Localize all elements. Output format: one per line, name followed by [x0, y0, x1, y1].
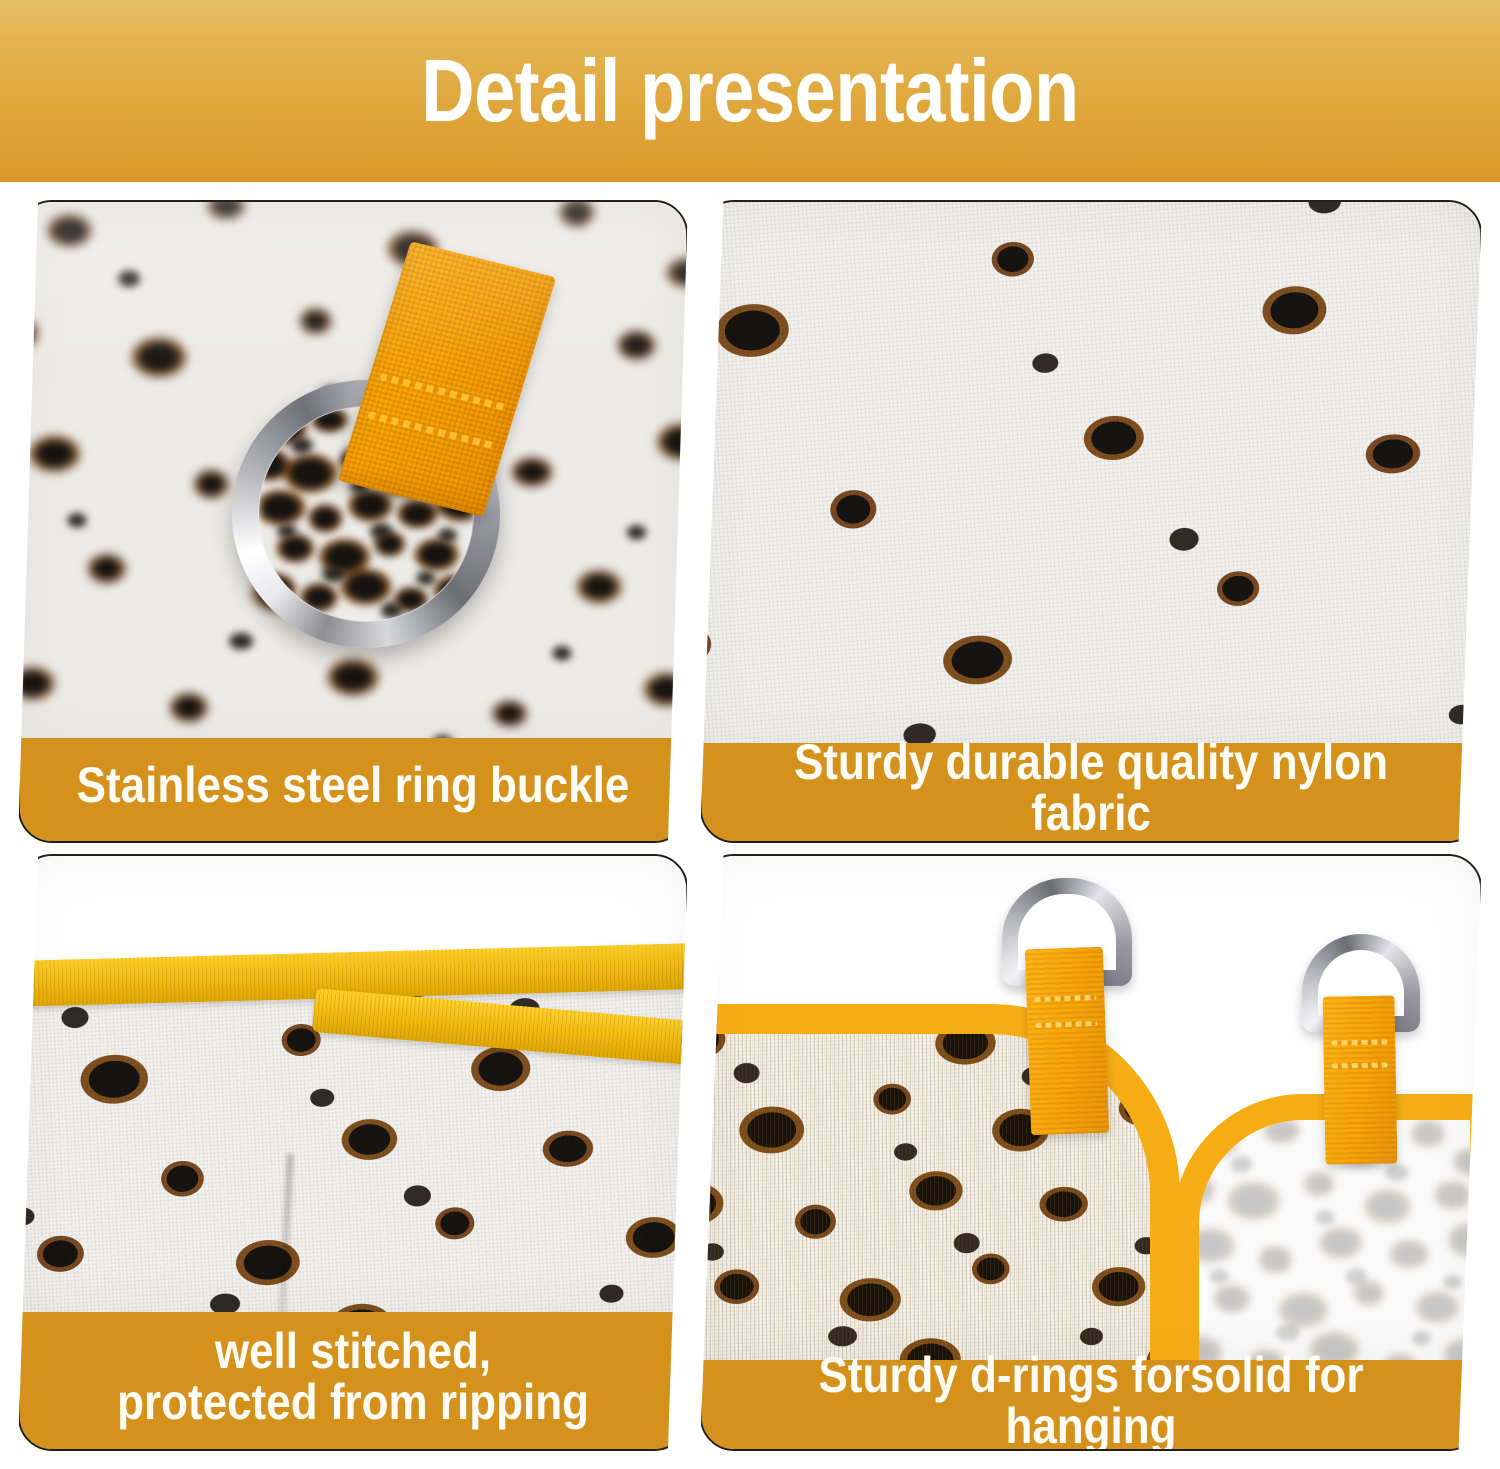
panel-card: Stainless steel ring buckle: [18, 200, 688, 843]
photo-inner: [702, 202, 1480, 747]
panel-stitching[interactable]: well stitched, protected from ripping: [18, 854, 688, 1451]
orange-d-ring-tab: [1025, 947, 1109, 1136]
panel-card: well stitched, protected from ripping: [18, 854, 688, 1451]
page-title: Detail presentation: [120, 0, 1380, 182]
panel-caption-text: Sturdy d-rings forsolid for hanging: [765, 1350, 1418, 1452]
panel-d-rings[interactable]: Sturdy d-rings forsolid for hanging: [700, 854, 1482, 1451]
webbing-stitch-row: [379, 373, 507, 411]
panel-card: Sturdy d-rings forsolid for hanging: [700, 854, 1482, 1451]
panel-caption-line-1: well stitched,: [215, 1326, 491, 1377]
panel-caption: well stitched, protected from ripping: [20, 1312, 686, 1449]
tab-stitch-row: [1035, 1021, 1097, 1028]
orange-d-ring-tab: [1323, 995, 1398, 1164]
d-rings-photo: [702, 856, 1480, 1364]
panel-caption-line-2: protected from ripping: [117, 1377, 589, 1428]
tab-stitch-row: [1332, 1063, 1388, 1069]
ring-buckle-photo: [20, 202, 686, 742]
panel-caption-text: Sturdy durable quality nylon fabric: [765, 737, 1418, 839]
panel-card: Sturdy durable quality nylon fabric: [700, 200, 1482, 843]
nylon-fabric-photo: [702, 202, 1480, 747]
tab-stitch-row: [1034, 995, 1096, 1002]
webbing-stitch-row: [367, 411, 495, 449]
panel-caption: Stainless steel ring buckle: [20, 738, 686, 841]
tab-stitch-row: [1331, 1039, 1387, 1045]
panel-caption-text: Stainless steel ring buckle: [77, 760, 630, 811]
panel-grid: Stainless steel ring buckle Sturdy durab…: [0, 182, 1500, 1469]
header-banner: Detail presentation: [0, 0, 1500, 182]
panel-caption: Sturdy durable quality nylon fabric: [702, 743, 1480, 841]
stitching-photo: [20, 856, 686, 1316]
leopard-print-weave: [702, 202, 1480, 747]
panel-nylon-fabric[interactable]: Sturdy durable quality nylon fabric: [700, 200, 1482, 843]
panel-caption: Sturdy d-rings forsolid for hanging: [702, 1360, 1480, 1449]
panel-ring-buckle[interactable]: Stainless steel ring buckle: [18, 200, 688, 843]
